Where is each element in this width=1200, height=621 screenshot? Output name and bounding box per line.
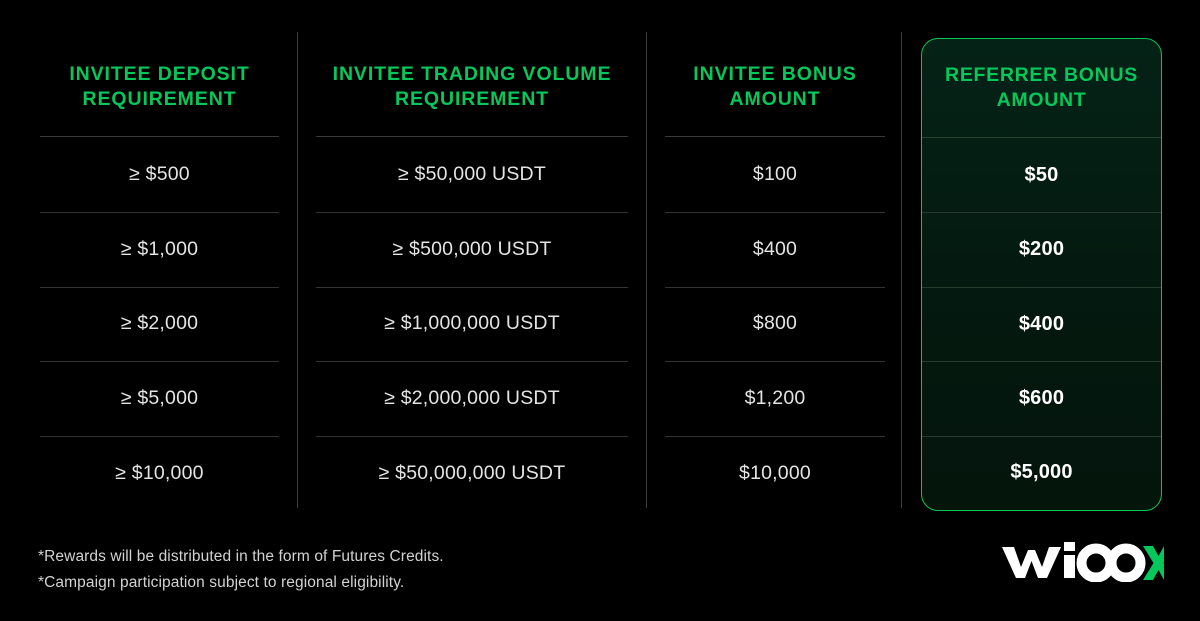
table-row: $200: [922, 212, 1161, 286]
cell-value: ≥ $2,000,000 USDT: [384, 387, 560, 410]
cell-value: $800: [753, 312, 797, 335]
cell-value: $100: [753, 163, 797, 186]
table-row: ≥ $500: [38, 137, 281, 212]
table-row: $400: [922, 287, 1161, 361]
cell-value: $5,000: [1010, 461, 1072, 484]
cell-value: $1,200: [745, 387, 806, 410]
table-row: ≥ $1,000: [38, 212, 281, 287]
rewards-table: INVITEE DEPOSIT REQUIREMENT ≥ $500 ≥ $1,…: [0, 0, 1200, 521]
table-row: $400: [663, 212, 887, 287]
table-row: ≥ $2,000: [38, 287, 281, 362]
column-header-invitee-deposit: INVITEE DEPOSIT REQUIREMENT: [38, 38, 281, 136]
cell-value: ≥ $5,000: [121, 387, 198, 410]
column-header-label: INVITEE TRADING VOLUME REQUIREMENT: [318, 62, 626, 112]
column-invitee-deposit: INVITEE DEPOSIT REQUIREMENT ≥ $500 ≥ $1,…: [38, 38, 281, 511]
table-row: ≥ $500,000 USDT: [314, 212, 630, 287]
cell-value: $200: [1019, 238, 1064, 261]
column-invitee-bonus: INVITEE BONUS AMOUNT $100 $400 $800 $1,2…: [663, 38, 887, 511]
column-referrer-bonus-highlighted: REFERRER BONUS AMOUNT $50 $200 $400 $600…: [921, 38, 1162, 511]
cell-value: $600: [1019, 387, 1064, 410]
cell-value: $400: [753, 238, 797, 261]
cell-value: $400: [1019, 313, 1064, 336]
column-rows: ≥ $500 ≥ $1,000 ≥ $2,000 ≥ $5,000 ≥ $10,…: [38, 137, 281, 511]
table-row: $10,000: [663, 436, 887, 511]
table-row: $5,000: [922, 436, 1161, 510]
column-rows: ≥ $50,000 USDT ≥ $500,000 USDT ≥ $1,000,…: [314, 137, 630, 511]
column-rows: $50 $200 $400 $600 $5,000: [922, 138, 1161, 510]
cell-value: ≥ $50,000 USDT: [398, 163, 546, 186]
footer-notes: *Rewards will be distributed in the form…: [38, 544, 444, 596]
table-row: ≥ $50,000,000 USDT: [314, 436, 630, 511]
column-header-referrer-bonus: REFERRER BONUS AMOUNT: [922, 39, 1161, 137]
table-row: $800: [663, 287, 887, 362]
footer-note-eligibility: *Campaign participation subject to regio…: [38, 570, 444, 596]
cell-value: $50: [1025, 164, 1059, 187]
table-row: ≥ $1,000,000 USDT: [314, 287, 630, 362]
cell-value: ≥ $50,000,000 USDT: [379, 462, 566, 485]
woo-x-logo-mark: [1000, 538, 1164, 582]
column-rows: $100 $400 $800 $1,200 $10,000: [663, 137, 887, 511]
cell-value: ≥ $500,000 USDT: [393, 238, 552, 261]
cell-value: ≥ $1,000: [121, 238, 198, 261]
column-header-invitee-bonus: INVITEE BONUS AMOUNT: [663, 38, 887, 136]
cell-value: ≥ $1,000,000 USDT: [384, 312, 560, 335]
cell-value: $10,000: [739, 462, 811, 485]
table-row: ≥ $5,000: [38, 361, 281, 436]
column-header-label: REFERRER BONUS AMOUNT: [926, 63, 1157, 113]
table-row: ≥ $2,000,000 USDT: [314, 361, 630, 436]
column-header-label: INVITEE DEPOSIT REQUIREMENT: [42, 62, 277, 112]
woo-x-logo: [1000, 536, 1164, 584]
table-row: $50: [922, 138, 1161, 212]
column-separator: [646, 32, 647, 508]
cell-value: ≥ $500: [129, 163, 190, 186]
promo-board: INVITEE DEPOSIT REQUIREMENT ≥ $500 ≥ $1,…: [0, 0, 1200, 621]
table-row: $100: [663, 137, 887, 212]
column-separator: [297, 32, 298, 508]
table-row: $1,200: [663, 361, 887, 436]
table-row: $600: [922, 361, 1161, 435]
column-invitee-trading-volume: INVITEE TRADING VOLUME REQUIREMENT ≥ $50…: [314, 38, 630, 511]
column-separator: [901, 32, 902, 508]
footer-note-rewards: *Rewards will be distributed in the form…: [38, 544, 444, 570]
column-header-label: INVITEE BONUS AMOUNT: [667, 62, 883, 112]
column-header-invitee-trading-volume: INVITEE TRADING VOLUME REQUIREMENT: [314, 38, 630, 136]
table-row: ≥ $50,000 USDT: [314, 137, 630, 212]
table-row: ≥ $10,000: [38, 436, 281, 511]
cell-value: ≥ $10,000: [115, 462, 203, 485]
cell-value: ≥ $2,000: [121, 312, 198, 335]
